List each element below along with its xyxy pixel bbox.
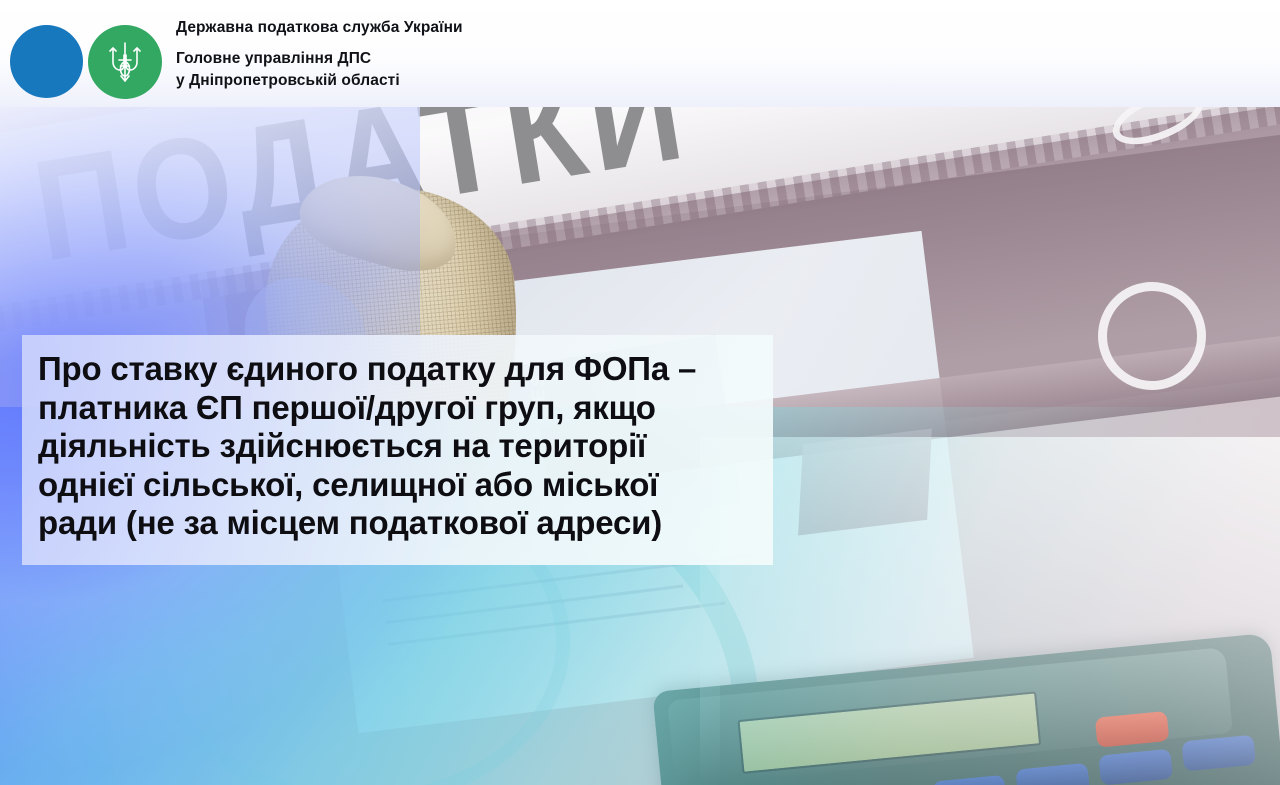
binder-ring-lower (1098, 282, 1206, 390)
headline-text: Про ставку єдиного податку для ФОПа – пл… (38, 350, 751, 543)
logo-mark[interactable] (10, 25, 166, 99)
headline-panel: Про ставку єдиного податку для ФОПа – пл… (22, 335, 773, 565)
ukrainian-trident-tryzub-icon (109, 40, 141, 84)
logo-blue-circle (10, 25, 83, 98)
folder-tab-shape (798, 428, 932, 535)
banner-page: BUSINESS ПОДАТКИ (0, 0, 1280, 785)
department-title: Головне управління ДПС у Дніпропетровськ… (176, 48, 876, 92)
calculator-lcd-display (737, 691, 1041, 774)
organization-title: Державна податкова служба України (176, 18, 876, 37)
header-titles: Державна податкова служба України Головн… (176, 18, 876, 92)
site-header: Державна податкова служба України Головн… (0, 0, 1280, 107)
